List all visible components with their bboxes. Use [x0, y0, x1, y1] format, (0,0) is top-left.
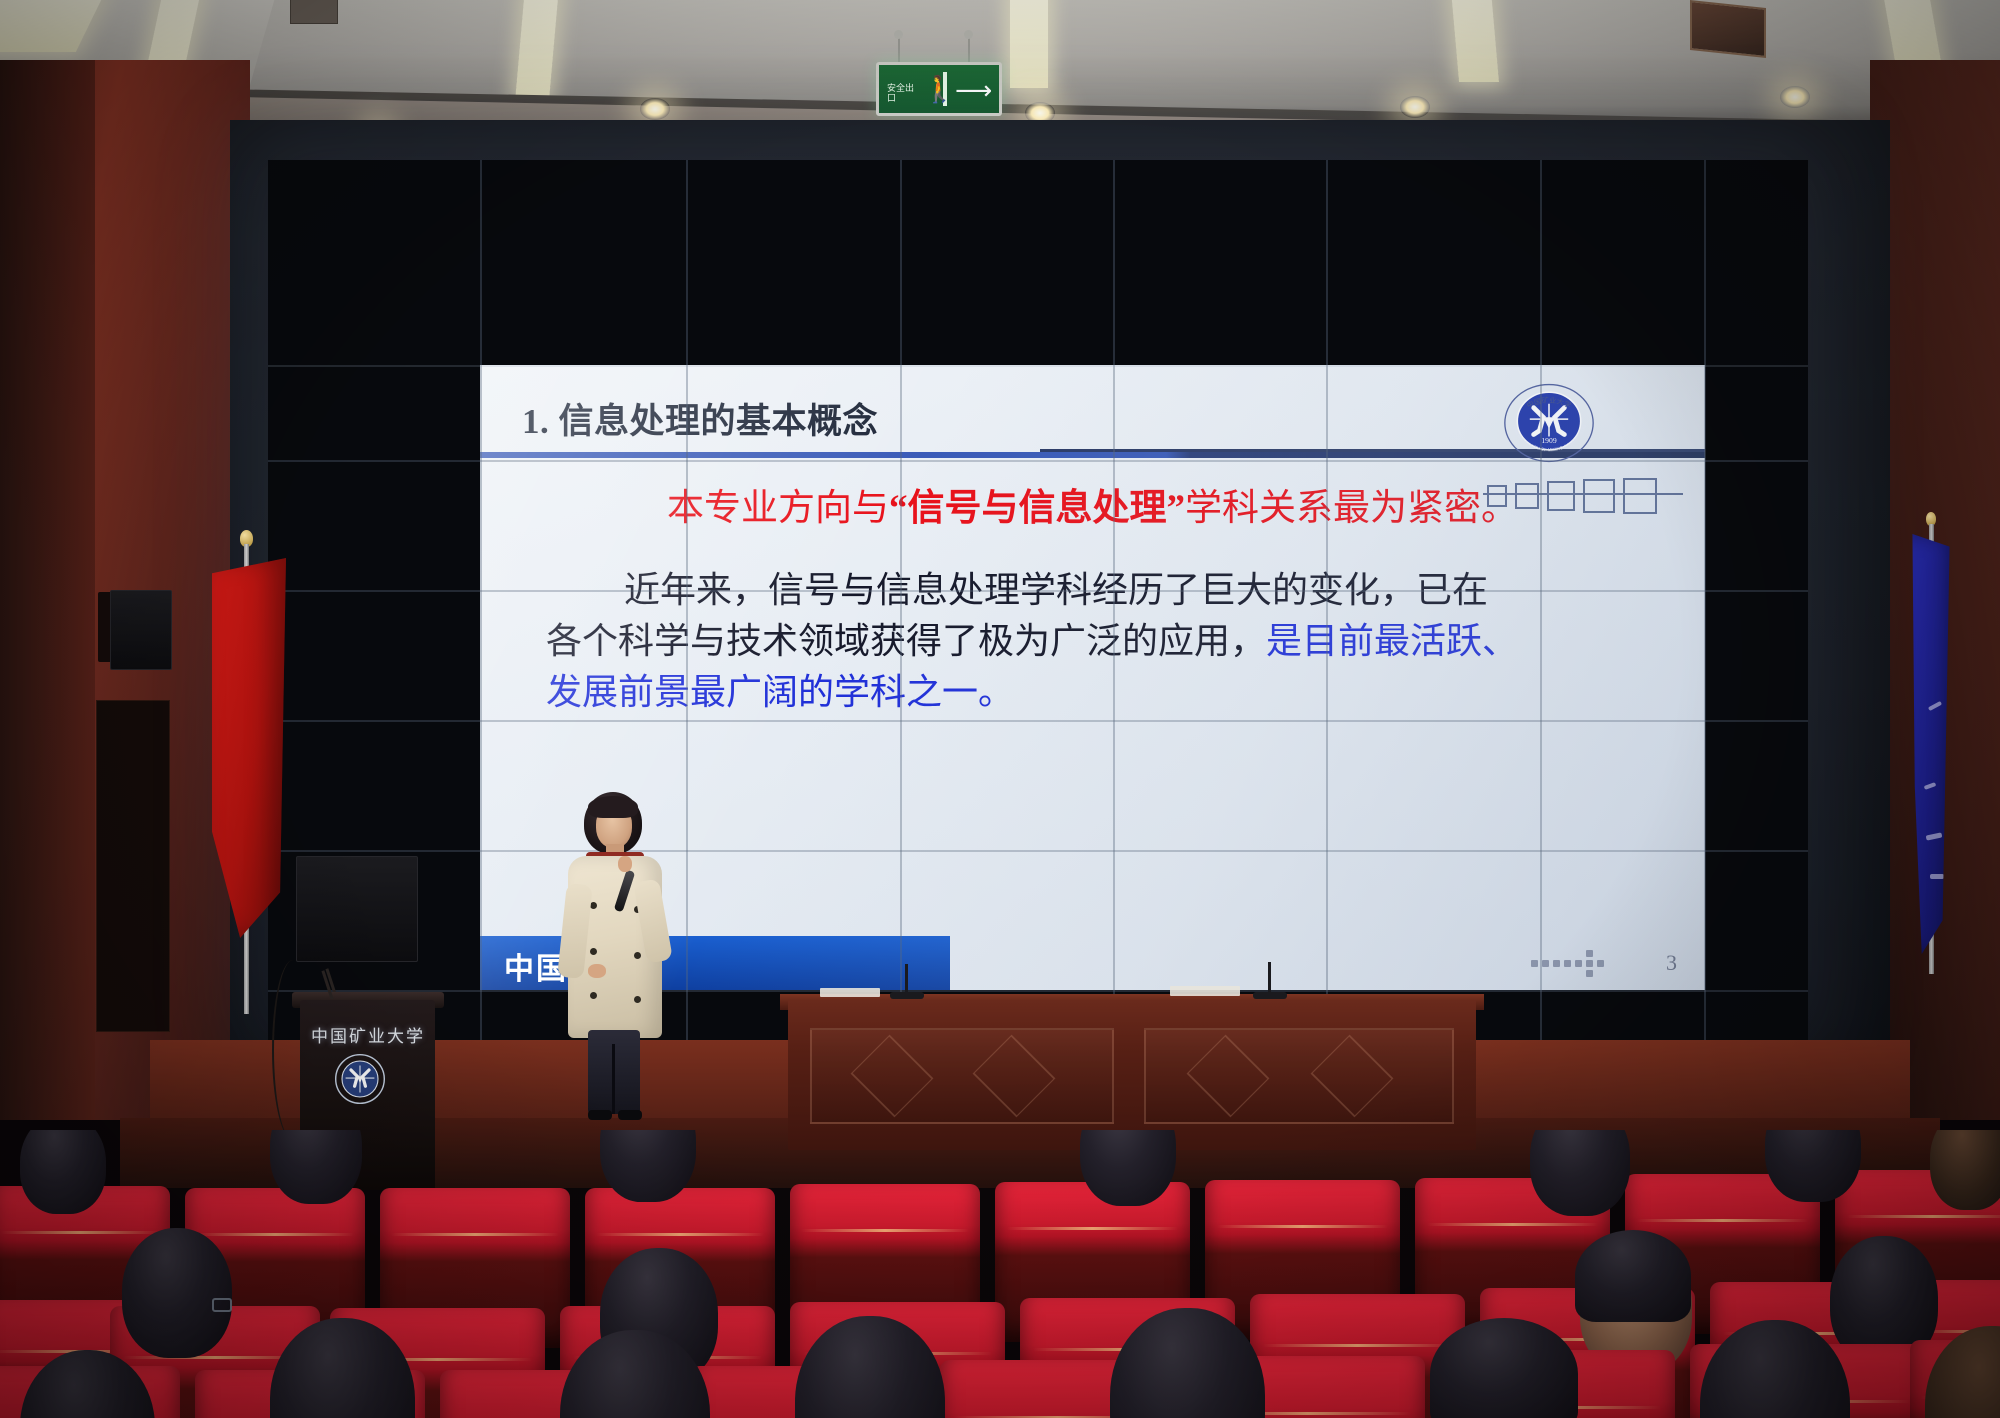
audience-head — [270, 1130, 362, 1204]
presenter-left-hand — [588, 964, 606, 978]
speaker-person — [548, 792, 678, 1122]
body-line-3-blue: 发展前景最广阔的学科之一。 — [546, 672, 1014, 712]
slide-title-rule-thin — [1040, 449, 1705, 452]
table-document — [1170, 986, 1240, 996]
ceiling-vent — [290, 0, 338, 24]
body-line-2-plain: 各个科学与技术领域获得了极为广泛的应用， — [546, 621, 1266, 661]
side-door[interactable] — [96, 700, 170, 1032]
exit-sign-hanger — [898, 36, 900, 64]
downlight — [1400, 96, 1430, 118]
slide-body-text: 近年来，信号与信息处理学科经历了巨大的变化，已在各个科学与技术领域获得了极为广泛… — [546, 565, 1646, 718]
body-line-1: 近年来，信号与信息处理学科经历了巨大的变化，已在 — [624, 570, 1488, 610]
presenter-shoe — [618, 1110, 642, 1120]
red-headline-quoted: “信号与信息处理” — [889, 488, 1185, 529]
running-person-icon: 🚶 — [923, 74, 945, 104]
table-panel — [810, 1028, 1114, 1124]
slide-title: 1. 信息处理的基本概念 — [522, 393, 878, 444]
audience-head — [1930, 1130, 2000, 1210]
presenter-shoe — [588, 1110, 612, 1120]
wall-speaker — [110, 590, 172, 670]
eyeglasses — [212, 1298, 232, 1312]
wall-artwork — [1690, 0, 1766, 58]
audience-hair — [1575, 1230, 1691, 1322]
university-crest-logo — [333, 1052, 387, 1106]
conference-table — [788, 1000, 1476, 1150]
table-microphone-base — [1253, 992, 1287, 999]
led-video-wall: 1. 信息处理的基本概念 本专业方向与“信号与信息处理”学科关系最为紧密。 近年… — [268, 160, 1808, 1040]
left-wall-shadow — [0, 60, 95, 1120]
emergency-exit-sign: 安全出口 🚶 ⟶ — [876, 62, 1002, 116]
presenter-right-hand — [618, 856, 632, 872]
slide-decoration-boxes — [1483, 477, 1683, 511]
body-line-2-blue: 是目前最活跃、 — [1266, 621, 1518, 661]
presenter-leg-gap — [612, 1044, 615, 1114]
slide-page-number: 3 — [1666, 950, 1677, 976]
presenter-hair-front — [588, 796, 638, 818]
svg-text:1909: 1909 — [1541, 436, 1557, 445]
podium-label: 中国矿业大学 — [306, 1022, 430, 1047]
lecture-hall-scene: 安全出口 🚶 ⟶ 1. 信息处理的基本概念 本专业方向与“信号与信息处理”学科关… — [0, 0, 2000, 1418]
exit-sign-label: 安全出口 — [887, 83, 921, 103]
red-headline-suffix: 学科关系最为紧密。 — [1185, 488, 1518, 529]
exit-sign-hanger — [968, 36, 970, 64]
audience-head — [1530, 1130, 1630, 1216]
audience-head — [122, 1228, 232, 1358]
audience-head — [20, 1130, 106, 1214]
exit-sign-mount — [894, 30, 903, 39]
audience-seating — [0, 1130, 2000, 1418]
downlight — [1780, 86, 1810, 108]
university-crest-logo: 1909 中国矿业大学 CHINA UNIVERSITY OF MINING &… — [1501, 375, 1597, 471]
table-microphone-base — [890, 992, 924, 999]
table-panel — [1144, 1028, 1454, 1124]
table-document — [820, 988, 880, 997]
exit-sign-mount — [964, 30, 973, 39]
red-headline-prefix: 本专业方向与 — [667, 488, 889, 529]
slide-arrow-dots — [1531, 948, 1627, 974]
audience-head — [1080, 1130, 1176, 1206]
arrow-right-icon: ⟶ — [955, 81, 992, 99]
stage-speaker — [296, 856, 418, 962]
table-microphone — [1268, 962, 1271, 996]
downlight — [640, 98, 670, 120]
